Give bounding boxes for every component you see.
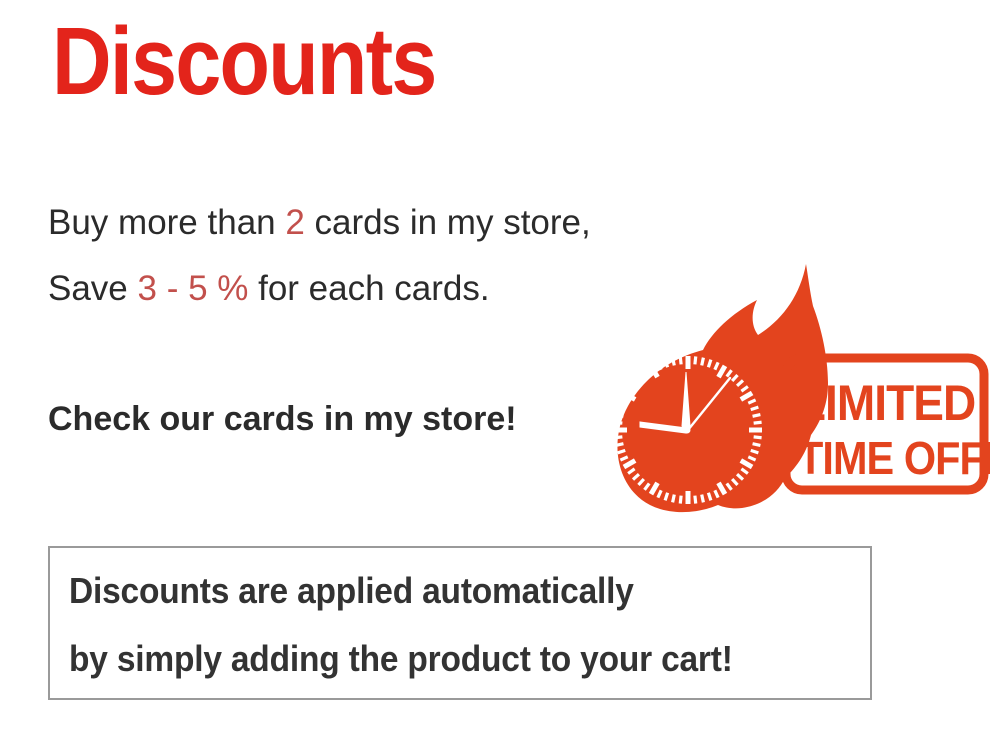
discount-banner: Discounts Buy more than 2 cards in my st… <box>0 0 1000 755</box>
auto-discount-note-line-2: by simply adding the product to your car… <box>69 638 733 680</box>
offer-savings-line: Save 3 - 5 % for each cards. <box>48 269 490 309</box>
limited-time-offer-badge: LIMITED TIME OFFER <box>786 358 990 490</box>
auto-discount-note-box: Discounts are applied automatically by s… <box>48 546 872 700</box>
clock-center-dot <box>684 427 691 434</box>
offer-condition-prefix: Buy more than <box>48 203 285 242</box>
limited-time-offer-graphic: LIMITED TIME OFFER <box>600 262 990 517</box>
savings-percent-value: 3 - 5 % <box>138 269 249 308</box>
offer-savings-suffix: for each cards. <box>248 269 489 308</box>
page-title: Discounts <box>52 14 436 110</box>
offer-condition-suffix: cards in my store, <box>305 203 591 242</box>
offer-condition-line: Buy more than 2 cards in my store, <box>48 203 591 243</box>
minimum-quantity-value: 2 <box>285 203 304 242</box>
badge-line-2: TIME OFFER <box>798 433 990 485</box>
offer-savings-prefix: Save <box>48 269 138 308</box>
auto-discount-note-line-1: Discounts are applied automatically <box>69 570 634 612</box>
store-call-to-action: Check our cards in my store! <box>48 399 517 439</box>
badge-line-1: LIMITED <box>798 376 976 431</box>
